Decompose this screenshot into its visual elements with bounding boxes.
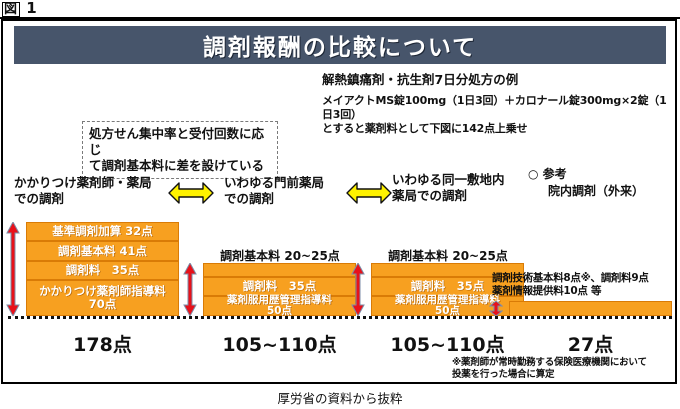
bar-segment-4: [509, 301, 672, 316]
double-arrow-icon-2: [346, 180, 392, 206]
bar-segment-2-rireki-line2: 50点: [267, 306, 292, 317]
reference-marker: ○ 参考: [528, 166, 678, 183]
bar-segment-1-shidouryo-line2: 70点: [89, 298, 117, 311]
bar-stack-4: [509, 301, 672, 316]
bar-segment-1-chozairyo: 調剤料 35点: [26, 261, 179, 280]
prescription-line-1: メイアクトMS錠100mg（1日3回）＋カロナール錠300mg×2錠（1日3回）: [322, 94, 672, 122]
bar-segment-2-kihonryo: [203, 263, 356, 277]
red-range-arrow-3: [351, 263, 365, 316]
red-range-arrow-1: [6, 222, 20, 316]
red-range-arrow-4: [489, 301, 503, 316]
bar-segment-3-rireki-line2: 50点: [435, 306, 460, 317]
bar-total-2: 105~110点: [203, 330, 356, 357]
bar-segment-1-shidouryo: かかりつけ薬剤師指導料 70点: [26, 280, 179, 316]
callout-line-1: 処方せん集中率と受付回数に応じ: [89, 126, 271, 158]
bar-total-1: 178点: [26, 330, 179, 357]
footnote-line-1: ※薬剤師が常時勤務する保険医療機関において: [452, 357, 678, 369]
column-header-3: いわゆる同一敷地内 薬局での調剤: [392, 172, 532, 204]
bar-stack-2: 調剤料 35点 薬剤服用歴管理指導料 50点: [203, 263, 356, 316]
column-header-3-line-1: いわゆる同一敷地内: [392, 172, 532, 188]
red-range-arrow-2: [183, 263, 197, 316]
column-header-1: かかりつけ薬剤師・薬局 での調剤: [14, 175, 164, 207]
figure-label: 図 1: [2, 0, 38, 17]
double-arrow-icon-1: [168, 180, 214, 206]
page-title: 調剤報酬の比較について: [203, 28, 477, 62]
prescription-line-2: とすると薬剤料として下図に142点上乗せ: [322, 122, 672, 136]
column-header-1-line-1: かかりつけ薬剤師・薬局: [14, 175, 164, 191]
column-header-1-line-2: での調剤: [14, 191, 164, 207]
chart-baseline: [8, 316, 672, 319]
bar-total-4: 27点: [509, 330, 672, 357]
source-caption: 厚労省の資料から抜粋: [0, 388, 680, 407]
reference-header: ○ 参考 院内調剤（外来）: [528, 166, 678, 200]
column4-note-line-1: 調剤技術基本料8点※、調剤料9点: [492, 272, 678, 285]
figure-label-box: 図: [2, 2, 20, 17]
figure-number: 1: [26, 0, 37, 17]
reference-label: 院内調剤（外来）: [528, 183, 678, 200]
column-header-2: いわゆる門前薬局 での調剤: [224, 175, 364, 207]
prescription-heading: 解熱鎮痛剤・抗生剤7日分処方の例: [322, 72, 672, 88]
bar-stack-1: 基準調剤加算 32点 調剤基本料 41点 調剤料 35点 かかりつけ薬剤師指導料…: [26, 222, 179, 316]
footnote-line-2: 投薬を行った場合に算定: [452, 369, 678, 381]
bar-toplabel-3: 調剤基本料 20~25点: [368, 247, 528, 264]
bar-segment-1-kijun: 基準調剤加算 32点: [26, 222, 179, 241]
bar-toplabel-2: 調剤基本料 20~25点: [200, 247, 360, 264]
footnote: ※薬剤師が常時勤務する保険医療機関において 投薬を行った場合に算定: [452, 357, 678, 381]
callout-line-2: て調剤基本料に差を設けている: [89, 158, 271, 174]
bar-total-3: 105~110点: [371, 330, 524, 357]
column-header-3-line-2: 薬局での調剤: [392, 188, 532, 204]
bar-segment-1-kihonryo: 調剤基本料 41点: [26, 241, 179, 261]
callout-box: 処方せん集中率と受付回数に応じ て調剤基本料に差を設けている: [82, 121, 278, 179]
column-header-2-line-1: いわゆる門前薬局: [224, 175, 364, 191]
column4-note: 調剤技術基本料8点※、調剤料9点 薬剤情報提供料10点 等: [492, 272, 678, 298]
column-header-2-line-2: での調剤: [224, 191, 364, 207]
column4-note-line-2: 薬剤情報提供料10点 等: [492, 285, 678, 298]
bar-segment-2-rireki: 薬剤服用歴管理指導料 50点: [203, 296, 356, 316]
prescription-example: 解熱鎮痛剤・抗生剤7日分処方の例 メイアクトMS錠100mg（1日3回）＋カロナ…: [322, 72, 672, 136]
title-bar: 調剤報酬の比較について: [14, 26, 666, 64]
